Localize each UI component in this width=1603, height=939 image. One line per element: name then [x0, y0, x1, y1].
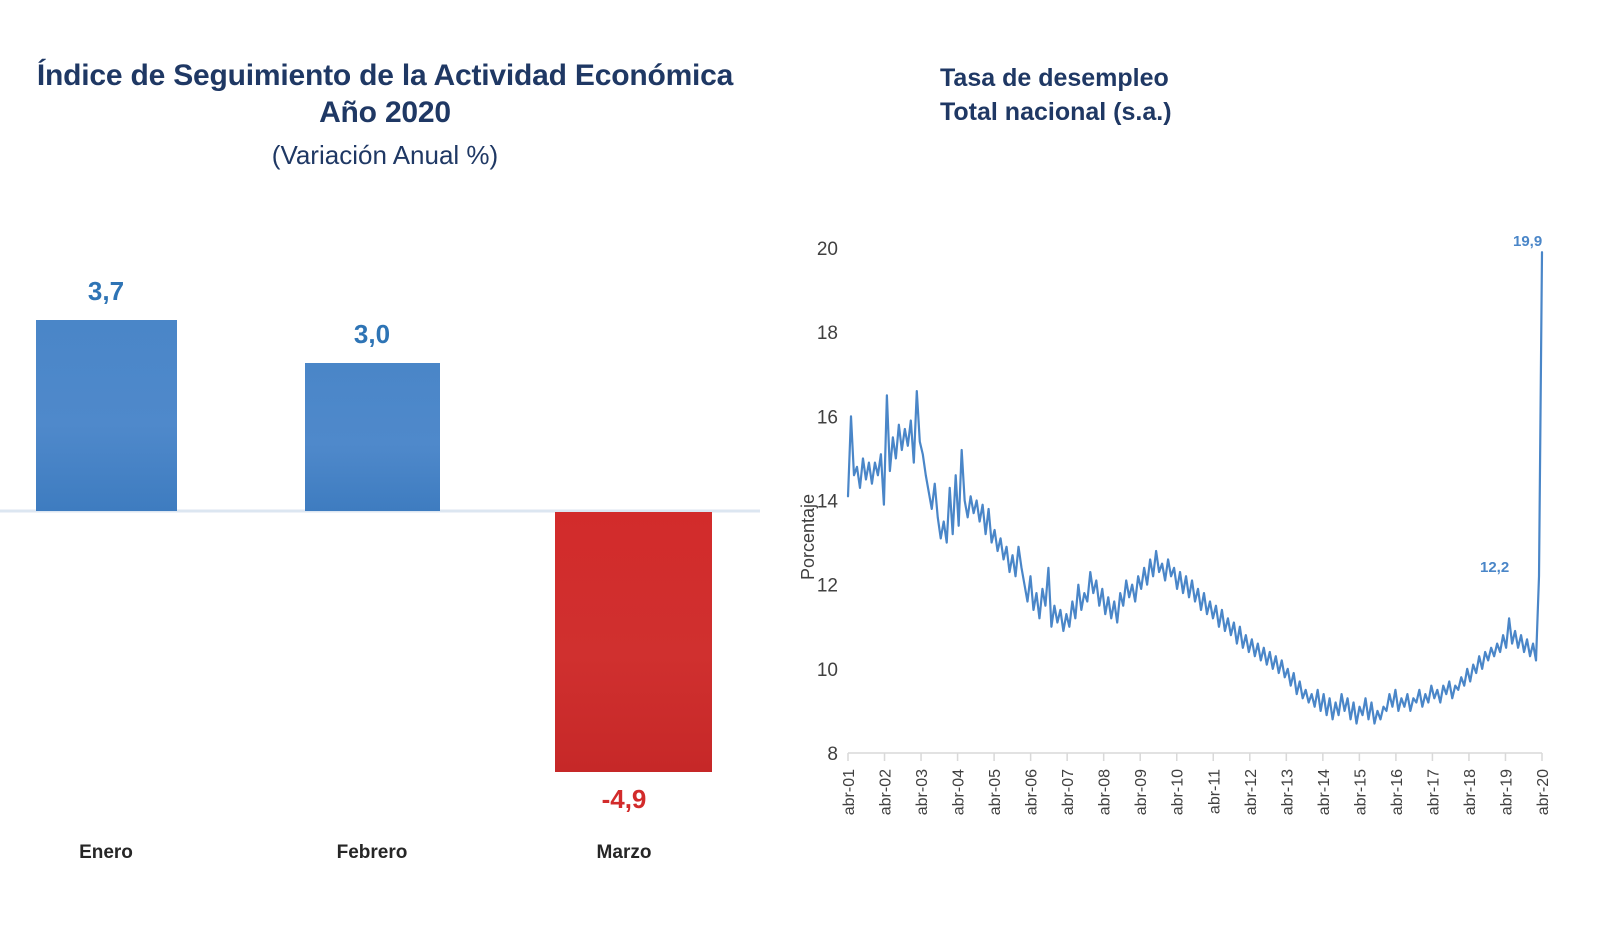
y-tick-label-18: 18 [817, 323, 838, 344]
x-tick-label-abr-06: abr-06 [1024, 769, 1041, 815]
x-tick-label-abr-01: abr-01 [841, 769, 858, 815]
y-axis-title: Porcentaje [798, 494, 818, 580]
y-tick-label-20: 20 [817, 239, 838, 260]
bar-chart-title-line2: Año 2020 [0, 95, 770, 132]
annotation-label-19-9: 19,9 [1513, 233, 1542, 250]
x-tick-label-abr-17: abr-17 [1425, 769, 1442, 815]
x-tick-label-abr-19: abr-19 [1498, 769, 1515, 815]
bar-value-label-febrero: 3,0 [354, 319, 390, 349]
y-tick-label-8: 8 [827, 744, 838, 765]
bar-group-enero: 3,7 Enero [36, 276, 177, 863]
y-tick-label-12: 12 [817, 576, 838, 597]
bar-chart-panel: Índice de Seguimiento de la Actividad Ec… [0, 0, 790, 939]
bar-group-febrero: 3,0 Febrero [305, 319, 440, 863]
x-axis-tick-labels: abr-01abr-02abr-03abr-04abr-05abr-06abr-… [841, 753, 1552, 815]
series-line-tasa-desempleo [848, 252, 1542, 723]
bar-category-label-febrero: Febrero [337, 842, 408, 863]
bar-value-label-marzo: -4,9 [602, 784, 647, 814]
bar-enero [36, 320, 177, 511]
x-tick-label-abr-07: abr-07 [1060, 769, 1077, 815]
y-tick-label-10: 10 [817, 660, 838, 681]
x-tick-label-abr-08: abr-08 [1097, 769, 1114, 815]
x-tick-label-abr-18: abr-18 [1462, 769, 1479, 815]
bar-category-label-enero: Enero [79, 842, 133, 863]
x-tick-label-abr-04: abr-04 [951, 769, 968, 815]
bar-category-label-marzo: Marzo [597, 842, 652, 863]
bar-chart: 3,7 Enero 3,0 Febrero -4,9 Marzo [0, 230, 790, 890]
bar-chart-subtitle: (Variación Anual %) [0, 139, 770, 172]
bar-chart-title-line1: Índice de Seguimiento de la Actividad Ec… [0, 58, 770, 95]
x-tick-label-abr-16: abr-16 [1389, 769, 1406, 815]
y-tick-label-16: 16 [817, 407, 838, 428]
x-tick-label-abr-11: abr-11 [1206, 769, 1223, 814]
x-tick-label-abr-10: abr-10 [1170, 769, 1187, 815]
line-chart-panel: Tasa de desempleo Total nacional (s.a.) … [790, 0, 1603, 939]
bar-chart-title-block: Índice de Seguimiento de la Actividad Ec… [0, 58, 770, 172]
line-chart: 8101214161820 Porcentaje abr-01abr-02abr… [790, 0, 1603, 939]
x-tick-label-abr-12: abr-12 [1243, 769, 1260, 815]
x-tick-label-abr-02: abr-02 [878, 769, 895, 815]
x-tick-label-abr-20: abr-20 [1535, 769, 1552, 815]
annotation-label-12-2: 12,2 [1480, 559, 1509, 576]
y-tick-label-14: 14 [817, 492, 839, 513]
bar-febrero [305, 363, 440, 511]
x-tick-label-abr-13: abr-13 [1279, 769, 1296, 815]
bar-marzo [555, 512, 712, 772]
x-tick-label-abr-15: abr-15 [1352, 769, 1369, 815]
x-tick-label-abr-05: abr-05 [987, 769, 1004, 815]
y-axis-tick-labels: 8101214161820 [817, 239, 839, 765]
x-tick-label-abr-03: abr-03 [914, 769, 931, 815]
x-tick-label-abr-09: abr-09 [1133, 769, 1150, 815]
bar-value-label-enero: 3,7 [88, 276, 124, 306]
x-tick-label-abr-14: abr-14 [1316, 769, 1333, 815]
bar-group-marzo: -4,9 Marzo [555, 512, 712, 863]
